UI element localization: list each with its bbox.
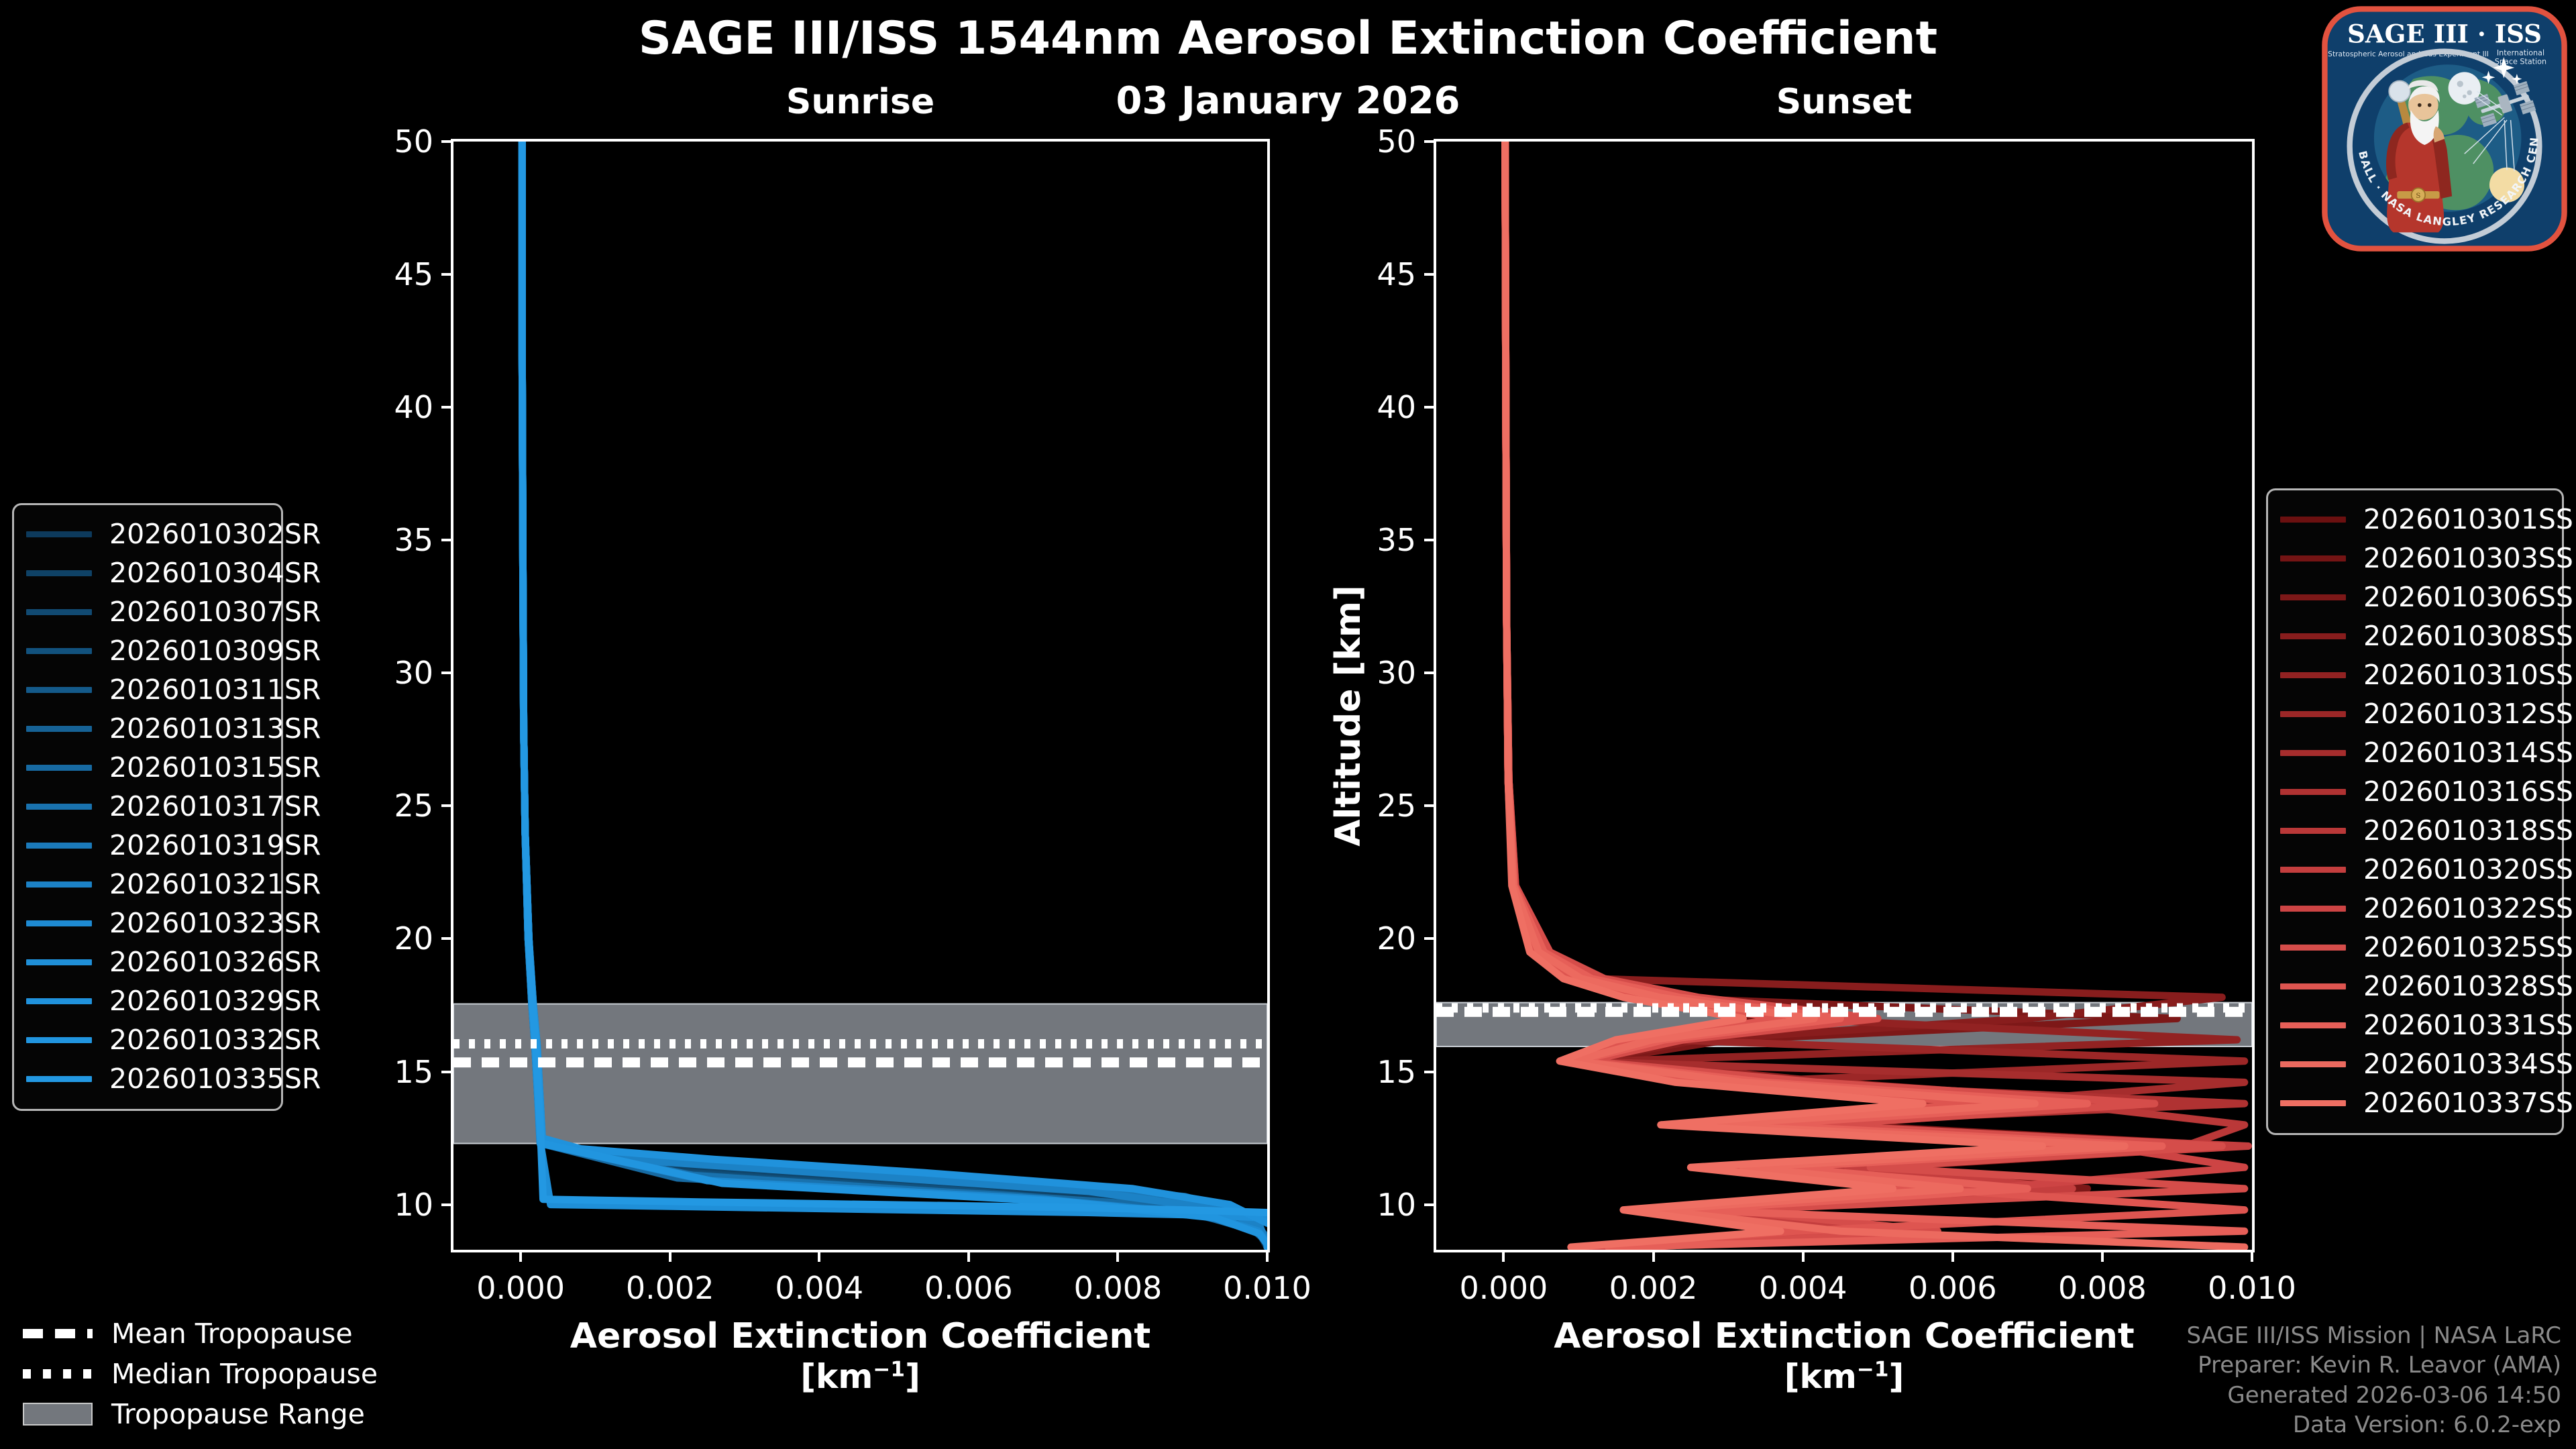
legend-item-label: 2026010302SR <box>109 518 321 550</box>
legend-item-label: 2026010337SS <box>2363 1087 2573 1119</box>
y-tick-label: 10 <box>1316 1187 1416 1223</box>
y-tick-mark <box>441 140 453 143</box>
x-tick-mark <box>669 1250 672 1262</box>
legend-color-swatch <box>26 959 92 965</box>
legend-item-label: 2026010301SS <box>2363 503 2573 535</box>
legend-color-swatch <box>26 531 92 537</box>
legend-item-median-tropopause: Median Tropopause <box>23 1354 372 1394</box>
legend-color-swatch <box>26 609 92 615</box>
legend-item-label: 2026010316SS <box>2363 775 2573 808</box>
legend-item[interactable]: 2026010314SS <box>2280 733 2550 772</box>
legend-item-label: 2026010332SR <box>109 1024 321 1056</box>
y-tick-label: 45 <box>333 256 433 292</box>
legend-item-label: 2026010335SR <box>109 1063 321 1095</box>
legend-item[interactable]: 2026010309SR <box>26 631 269 670</box>
x-tick-label: 0.000 <box>476 1270 565 1306</box>
legend-color-swatch <box>26 998 92 1004</box>
x-tick-label: 0.004 <box>1759 1270 1847 1306</box>
legend-item[interactable]: 2026010316SS <box>2280 772 2550 811</box>
legend-sunrise-events[interactable]: 2026010302SR2026010304SR2026010307SR2026… <box>12 503 283 1111</box>
legend-item[interactable]: 2026010307SR <box>26 592 269 631</box>
y-tick-mark <box>441 672 453 674</box>
legend-color-swatch <box>2280 828 2346 834</box>
legend-color-swatch <box>2280 633 2346 639</box>
y-tick-mark <box>1424 1071 1436 1073</box>
legend-color-swatch <box>2280 594 2346 600</box>
legend-item-label: 2026010334SS <box>2363 1048 2573 1080</box>
legend-item[interactable]: 2026010315SR <box>26 748 269 787</box>
x-tick-label: 0.002 <box>626 1270 714 1306</box>
legend-color-swatch <box>26 843 92 849</box>
y-tick-label: 10 <box>333 1187 433 1223</box>
legend-item[interactable]: 2026010304SR <box>26 553 269 592</box>
legend-color-swatch <box>2280 711 2346 717</box>
legend-item[interactable]: 2026010323SR <box>26 904 269 943</box>
legend-item[interactable]: 2026010301SS <box>2280 500 2550 539</box>
plot-area-sunset <box>1436 142 2252 1250</box>
legend-item-mean-tropopause: Mean Tropopause <box>23 1313 372 1354</box>
legend-item-label: 2026010303SS <box>2363 542 2573 574</box>
legend-item-label: 2026010313SR <box>109 712 321 745</box>
legend-color-swatch <box>2280 750 2346 756</box>
legend-color-swatch <box>2280 517 2346 523</box>
legend-item-label: 2026010326SR <box>109 946 321 978</box>
legend-label-median: Median Tropopause <box>111 1358 378 1390</box>
x-axis-unit: [km−1] <box>1434 1357 2255 1397</box>
y-tick-label: 20 <box>333 920 433 957</box>
legend-color-swatch <box>26 1076 92 1082</box>
x-tick-mark <box>2101 1250 2104 1262</box>
legend-color-swatch <box>2280 945 2346 951</box>
y-tick-mark <box>441 1203 453 1206</box>
legend-item-label: 2026010321SR <box>109 868 321 900</box>
svg-text:SAGE III · ISS: SAGE III · ISS <box>2347 19 2542 49</box>
y-tick-mark <box>1424 539 1436 541</box>
legend-color-swatch <box>26 804 92 810</box>
legend-item-label: 2026010306SS <box>2363 581 2573 613</box>
legend-item[interactable]: 2026010331SS <box>2280 1006 2550 1044</box>
x-axis-label-text: Aerosol Extinction Coefficient <box>451 1316 1270 1357</box>
y-tick-label: 50 <box>333 123 433 160</box>
x-tick-label: 0.008 <box>2058 1270 2147 1306</box>
y-tick-label: 35 <box>1316 522 1416 558</box>
sage-iii-iss-mission-patch-logo: SAGE III · ISS Stratospheric Aerosol and… <box>2320 4 2569 254</box>
legend-item[interactable]: 2026010332SR <box>26 1020 269 1059</box>
y-tick-mark <box>1424 406 1436 409</box>
x-axis-unit: [km−1] <box>451 1357 1270 1397</box>
x-tick-mark <box>1652 1250 1655 1262</box>
y-tick-label: 25 <box>333 788 433 824</box>
x-tick-label: 0.002 <box>1609 1270 1698 1306</box>
y-tick-mark <box>441 273 453 276</box>
legend-item-label: 2026010309SR <box>109 635 321 667</box>
legend-item[interactable]: 2026010320SS <box>2280 850 2550 889</box>
profile-line <box>1505 142 2245 1247</box>
legend-item-label: 2026010325SS <box>2363 931 2573 963</box>
svg-text:S: S <box>2416 193 2420 200</box>
x-tick-label: 0.000 <box>1460 1270 1548 1306</box>
legend-item-label: 2026010314SS <box>2363 737 2573 769</box>
legend-color-swatch <box>2280 906 2346 912</box>
legend-color-swatch <box>2280 983 2346 989</box>
y-tick-mark <box>1424 1203 1436 1206</box>
x-tick-label: 0.006 <box>924 1270 1013 1306</box>
legend-item[interactable]: 2026010321SR <box>26 865 269 904</box>
legend-item-label: 2026010312SS <box>2363 698 2573 730</box>
legend-item-label: 2026010317SR <box>109 790 321 822</box>
legend-color-swatch <box>26 881 92 888</box>
legend-item-label: 2026010322SS <box>2363 892 2573 924</box>
plot-panel-sunset <box>1434 139 2255 1252</box>
y-tick-label: 50 <box>1316 123 1416 160</box>
legend-item[interactable]: 2026010328SS <box>2280 967 2550 1006</box>
profile-lines-sunrise <box>453 142 1267 1250</box>
legend-item[interactable]: 2026010313SR <box>26 709 269 748</box>
page-title: SAGE III/ISS 1544nm Aerosol Extinction C… <box>0 12 2576 65</box>
legend-color-swatch <box>26 726 92 732</box>
y-tick-mark <box>1424 672 1436 674</box>
plot-panel-sunrise <box>451 139 1270 1252</box>
y-tick-label: 45 <box>1316 256 1416 292</box>
profile-lines-sunset <box>1436 142 2252 1250</box>
legend-item[interactable]: 2026010334SS <box>2280 1044 2550 1083</box>
legend-item-label: 2026010323SR <box>109 907 321 939</box>
legend-color-swatch <box>26 687 92 693</box>
legend-color-swatch <box>2280 867 2346 873</box>
legend-color-swatch <box>2280 1100 2346 1106</box>
x-tick-mark <box>2251 1250 2253 1262</box>
legend-item[interactable]: 2026010318SS <box>2280 811 2550 850</box>
legend-item[interactable]: 2026010326SR <box>26 943 269 981</box>
legend-item[interactable]: 2026010325SS <box>2280 928 2550 967</box>
x-tick-mark <box>1116 1250 1119 1262</box>
legend-item[interactable]: 2026010317SR <box>26 787 269 826</box>
y-tick-label: 40 <box>333 389 433 425</box>
x-tick-label: 0.010 <box>1223 1270 1311 1306</box>
legend-item[interactable]: 2026010306SS <box>2280 578 2550 616</box>
legend-color-swatch <box>26 1037 92 1043</box>
legend-color-swatch <box>26 648 92 654</box>
legend-item-label: 2026010304SR <box>109 557 321 589</box>
legend-label-range: Tropopause Range <box>111 1398 365 1430</box>
legend-tropopause: Mean Tropopause Median Tropopause Tropop… <box>23 1313 372 1434</box>
panel-title-sunset: Sunset <box>1434 82 2255 122</box>
legend-item-label: 2026010331SS <box>2363 1009 2573 1041</box>
y-tick-label: 15 <box>333 1054 433 1090</box>
legend-sunset-events[interactable]: 2026010301SS2026010303SS2026010306SS2026… <box>2266 488 2564 1135</box>
footer-line-generated: Generated 2026-03-06 14:50 <box>2186 1381 2561 1410</box>
legend-item[interactable]: 2026010310SS <box>2280 655 2550 694</box>
legend-item[interactable]: 2026010319SR <box>26 826 269 865</box>
legend-item-label: 2026010319SR <box>109 829 321 861</box>
svg-text:International: International <box>2497 48 2544 57</box>
legend-item-tropopause-range: Tropopause Range <box>23 1394 372 1434</box>
tropopause-range-band <box>453 1004 1267 1144</box>
legend-item[interactable]: 2026010335SR <box>26 1059 269 1098</box>
legend-item-label: 2026010329SR <box>109 985 321 1017</box>
y-tick-mark <box>441 937 453 940</box>
y-tick-label: 20 <box>1316 920 1416 957</box>
y-tick-label: 40 <box>1316 389 1416 425</box>
legend-item[interactable]: 2026010329SR <box>26 981 269 1020</box>
figure-canvas: SAGE III/ISS 1544nm Aerosol Extinction C… <box>0 0 2576 1449</box>
panel-title-sunrise: Sunrise <box>451 82 1270 122</box>
legend-label-mean: Mean Tropopause <box>111 1318 353 1350</box>
y-tick-mark <box>441 804 453 807</box>
legend-item[interactable]: 2026010311SR <box>26 670 269 709</box>
legend-color-swatch <box>2280 1022 2346 1028</box>
x-axis-label-sunrise: Aerosol Extinction Coefficient [km−1] <box>451 1316 1270 1397</box>
x-tick-label: 0.008 <box>1074 1270 1163 1306</box>
footer-line-version: Data Version: 6.0.2-exp <box>2186 1410 2561 1440</box>
legend-color-swatch <box>26 570 92 576</box>
legend-color-swatch <box>2280 555 2346 561</box>
x-tick-mark <box>1951 1250 1954 1262</box>
legend-item[interactable]: 2026010308SS <box>2280 616 2550 655</box>
y-tick-mark <box>1424 273 1436 276</box>
legend-item-label: 2026010308SS <box>2363 620 2573 652</box>
y-tick-mark <box>441 1071 453 1073</box>
x-axis-label-text: Aerosol Extinction Coefficient <box>1434 1316 2255 1357</box>
x-tick-mark <box>818 1250 820 1262</box>
legend-item-label: 2026010310SS <box>2363 659 2573 691</box>
band-swatch-icon <box>23 1403 93 1426</box>
legend-item[interactable]: 2026010303SS <box>2280 539 2550 578</box>
legend-item-label: 2026010318SS <box>2363 814 2573 847</box>
footer-line-mission: SAGE III/ISS Mission | NASA LaRC <box>2186 1321 2561 1350</box>
legend-color-swatch <box>2280 1061 2346 1067</box>
x-tick-label: 0.006 <box>1909 1270 1997 1306</box>
legend-item-label: 2026010315SR <box>109 751 321 784</box>
legend-item[interactable]: 2026010322SS <box>2280 889 2550 928</box>
legend-item-label: 2026010328SS <box>2363 970 2573 1002</box>
y-tick-mark <box>441 539 453 541</box>
y-tick-label: 35 <box>333 522 433 558</box>
x-tick-mark <box>1266 1250 1269 1262</box>
y-tick-mark <box>441 406 453 409</box>
y-tick-mark <box>1424 140 1436 143</box>
x-tick-mark <box>1802 1250 1805 1262</box>
legend-color-swatch <box>26 920 92 926</box>
legend-item-label: 2026010311SR <box>109 674 321 706</box>
x-tick-mark <box>519 1250 522 1262</box>
footer-line-preparer: Preparer: Kevin R. Leavor (AMA) <box>2186 1350 2561 1380</box>
y-tick-mark <box>1424 937 1436 940</box>
y-axis-label-sunset: Altitude [km] <box>1328 575 1368 857</box>
y-tick-label: 30 <box>333 655 433 691</box>
x-axis-label-sunset: Aerosol Extinction Coefficient [km−1] <box>1434 1316 2255 1397</box>
legend-item[interactable]: 2026010337SS <box>2280 1083 2550 1122</box>
y-tick-label: 15 <box>1316 1054 1416 1090</box>
legend-item[interactable]: 2026010302SR <box>26 515 269 553</box>
plot-area-sunrise <box>453 142 1267 1250</box>
legend-item-label: 2026010307SR <box>109 596 321 628</box>
dashed-line-icon <box>23 1329 93 1338</box>
dotted-line-icon <box>23 1369 93 1379</box>
x-tick-mark <box>967 1250 970 1262</box>
x-tick-mark <box>1502 1250 1505 1262</box>
x-tick-label: 0.004 <box>775 1270 863 1306</box>
legend-item[interactable]: 2026010312SS <box>2280 694 2550 733</box>
legend-color-swatch <box>2280 789 2346 795</box>
footer-credits: SAGE III/ISS Mission | NASA LaRC Prepare… <box>2186 1321 2561 1440</box>
y-tick-mark <box>1424 804 1436 807</box>
legend-color-swatch <box>2280 672 2346 678</box>
x-tick-label: 0.010 <box>2208 1270 2296 1306</box>
legend-item-label: 2026010320SS <box>2363 853 2573 885</box>
legend-color-swatch <box>26 765 92 771</box>
